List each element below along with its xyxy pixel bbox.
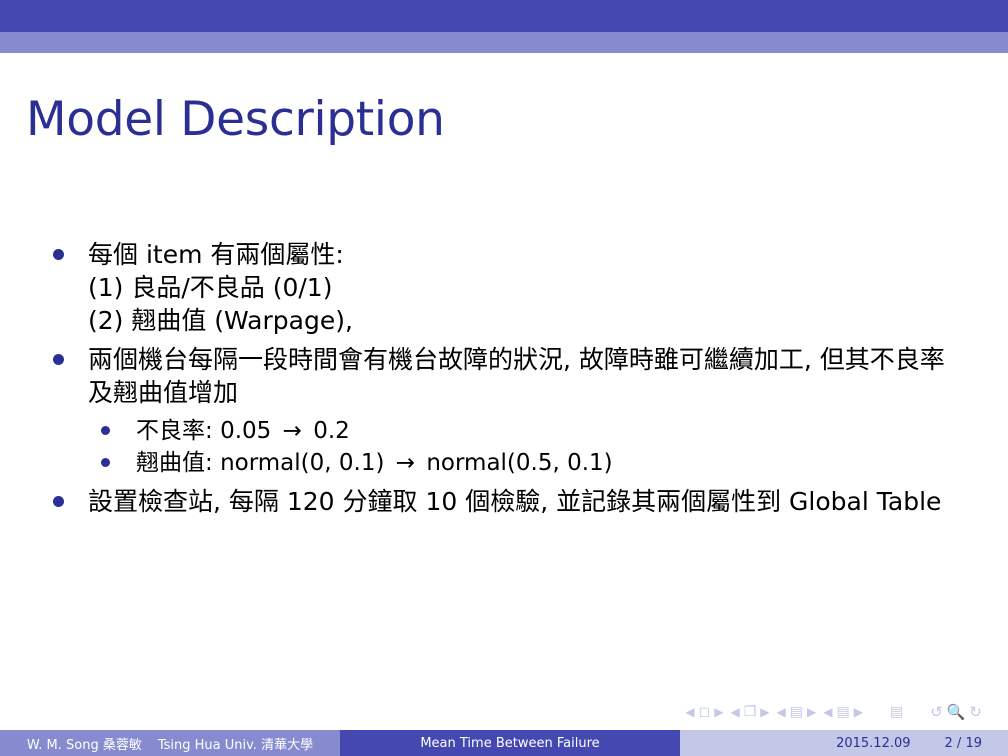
nav-document-icon[interactable]: ▤: [890, 705, 903, 719]
nav-next-subsection-icon[interactable]: ▶: [807, 706, 816, 718]
nav-group-frame[interactable]: ◀ ❐ ▶: [730, 705, 769, 719]
nav-prev-section-icon[interactable]: ◀: [823, 706, 832, 718]
nav-group-subsection[interactable]: ◀ ▤ ▶: [777, 705, 817, 719]
list-item: 翹曲值: normal(0, 0.1) → normal(0.5, 0.1): [88, 447, 1008, 479]
footer-talk-title: Mean Time Between Failure: [420, 736, 599, 751]
nav-group-section[interactable]: ◀ ▤ ▶: [823, 705, 863, 719]
sub-bullet-from: 0.05: [220, 418, 271, 444]
bullet-line: 每個 item 有兩個屬性:: [88, 238, 1008, 271]
nav-next-section-icon[interactable]: ▶: [854, 706, 863, 718]
list-item: 兩個機台每隔一段時間會有機台故障的狀況, 故障時雖可繼續加工, 但其不良率及翹曲…: [0, 343, 1008, 479]
header-band-dark: [0, 0, 1008, 32]
list-item: 設置檢查站, 每隔 120 分鐘取 10 個檢驗, 並記錄其兩個屬性到 Glob…: [0, 485, 1008, 518]
footer-institute: Tsing Hua Univ. 清華大學: [158, 734, 313, 753]
bullet-dot-icon: [53, 496, 64, 507]
list-item: 每個 item 有兩個屬性: (1) 良品/不良品 (0/1) (2) 翹曲值 …: [0, 238, 1008, 337]
sub-bullet-to: 0.2: [313, 418, 350, 444]
nav-forward-icon[interactable]: ↻: [969, 705, 982, 720]
bullet-list: 每個 item 有兩個屬性: (1) 良品/不良品 (0/1) (2) 翹曲值 …: [0, 238, 1008, 518]
footer: W. M. Song 桑蓉敏 Tsing Hua Univ. 清華大學 Mean…: [0, 730, 1008, 756]
bullet-dot-icon: [53, 249, 64, 260]
footer-page-number: 2 / 19: [945, 736, 982, 751]
list-item: 不良率: 0.05 → 0.2: [88, 415, 1008, 447]
footer-meta-section: 2015.12.09 2 / 19: [680, 730, 1008, 756]
sub-bullet-to: normal(0.5, 0.1): [426, 450, 612, 476]
nav-next-slide-icon[interactable]: ▶: [714, 706, 723, 718]
bullet-line: 設置檢查站, 每隔 120 分鐘取 10 個檢驗, 並記錄其兩個屬性到 Glob…: [88, 485, 948, 518]
nav-subsection-icon[interactable]: ▤: [790, 705, 803, 719]
nav-section-icon[interactable]: ▤: [836, 705, 849, 719]
nav-back-icon[interactable]: ↺: [930, 705, 943, 720]
page-title: Model Description: [26, 95, 445, 144]
sub-bullet-from: normal(0, 0.1): [220, 450, 384, 476]
nav-prev-subsection-icon[interactable]: ◀: [777, 706, 786, 718]
arrow-right-icon: →: [279, 418, 306, 444]
header-band-light: [0, 32, 1008, 53]
nav-slide-icon[interactable]: ◻: [699, 705, 711, 719]
bullet-line: (2) 翹曲值 (Warpage),: [88, 304, 1008, 337]
arrow-right-icon: →: [392, 450, 419, 476]
nav-next-frame-icon[interactable]: ▶: [760, 706, 769, 718]
sub-bullet-label: 不良率:: [136, 418, 213, 444]
nav-prev-frame-icon[interactable]: ◀: [730, 706, 739, 718]
footer-author: W. M. Song 桑蓉敏: [27, 734, 142, 753]
sub-bullet-list: 不良率: 0.05 → 0.2 翹曲值: normal(0, 0.1) → no…: [88, 415, 1008, 479]
nav-frame-icon[interactable]: ❐: [744, 705, 757, 719]
footer-author-section: W. M. Song 桑蓉敏 Tsing Hua Univ. 清華大學: [0, 730, 340, 756]
sub-bullet-label: 翹曲值:: [136, 450, 213, 476]
nav-prev-slide-icon[interactable]: ◀: [685, 706, 694, 718]
nav-search-icon[interactable]: 🔍: [947, 705, 966, 720]
footer-title-section: Mean Time Between Failure: [340, 730, 680, 756]
bullet-dot-icon: [53, 354, 64, 365]
footer-date: 2015.12.09: [836, 736, 910, 751]
slide-body: 每個 item 有兩個屬性: (1) 良品/不良品 (0/1) (2) 翹曲值 …: [0, 238, 1008, 524]
bullet-line: (1) 良品/不良品 (0/1): [88, 271, 1008, 304]
bullet-dot-icon: [101, 426, 110, 435]
beamer-navigation-symbols[interactable]: ◀ ◻ ▶ ◀ ❐ ▶ ◀ ▤ ▶ ◀ ▤ ▶ ▤ ↺ 🔍 ↻: [685, 700, 982, 724]
bullet-line: 兩個機台每隔一段時間會有機台故障的狀況, 故障時雖可繼續加工, 但其不良率及翹曲…: [88, 343, 948, 409]
nav-group-history[interactable]: ↺ 🔍 ↻: [930, 705, 982, 720]
bullet-dot-icon: [101, 458, 110, 467]
nav-group-slide[interactable]: ◀ ◻ ▶: [685, 705, 723, 719]
